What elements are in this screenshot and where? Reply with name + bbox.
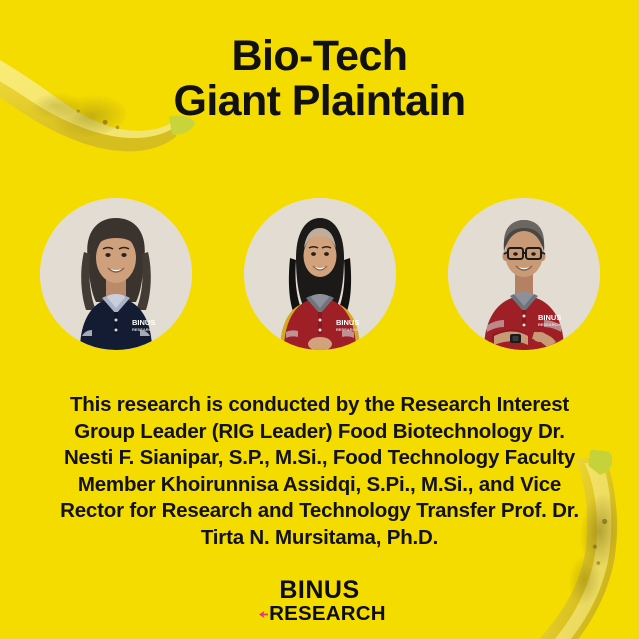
title-line-2: Giant Plaintain bbox=[0, 79, 639, 124]
body-line-2: Group Leader (RIG Leader) Food Biotechno… bbox=[32, 419, 607, 446]
body-line-4: Member Khoirunnisa Assidqi, S.Pi., M.Si.… bbox=[32, 472, 607, 499]
poster-body-text: This research is conducted by the Resear… bbox=[32, 392, 607, 551]
title-line-1: Bio-Tech bbox=[0, 34, 639, 79]
svg-text:RESEARCH: RESEARCH bbox=[538, 322, 561, 327]
body-line-5: Rector for Research and Technology Trans… bbox=[32, 498, 607, 525]
logo-binus-text: BINUS bbox=[279, 578, 359, 602]
svg-text:BINUS: BINUS bbox=[538, 313, 561, 322]
poster-title: Bio-Tech Giant Plaintain bbox=[0, 34, 639, 124]
logo-accent-arrow-icon bbox=[259, 610, 268, 619]
svg-text:RESEARCH: RESEARCH bbox=[132, 327, 155, 332]
poster-canvas: Bio-Tech Giant Plaintain bbox=[0, 0, 639, 639]
svg-text:BINUS: BINUS bbox=[132, 318, 155, 327]
svg-text:RESEARCH: RESEARCH bbox=[336, 327, 359, 332]
portrait-row: BINUS RESEARCH bbox=[0, 198, 639, 353]
svg-text:BINUS: BINUS bbox=[336, 318, 359, 327]
body-line-1: This research is conducted by the Resear… bbox=[32, 392, 607, 419]
body-line-6: Tirta N. Mursitama, Ph.D. bbox=[32, 525, 607, 552]
portrait-khoirunnisa-assidqi: BINUS RESEARCH bbox=[244, 198, 396, 350]
binus-research-logo: BINUS RESEARCH bbox=[0, 578, 639, 624]
logo-research-row: RESEARCH bbox=[259, 603, 386, 624]
logo-research-text: RESEARCH bbox=[269, 603, 386, 624]
portrait-nesti-sianipar: BINUS RESEARCH bbox=[40, 198, 192, 350]
body-line-3: Nesti F. Sianipar, S.P., M.Si., Food Tec… bbox=[32, 445, 607, 472]
portrait-tirta-mursitama: BINUS RESEARCH bbox=[448, 198, 600, 350]
